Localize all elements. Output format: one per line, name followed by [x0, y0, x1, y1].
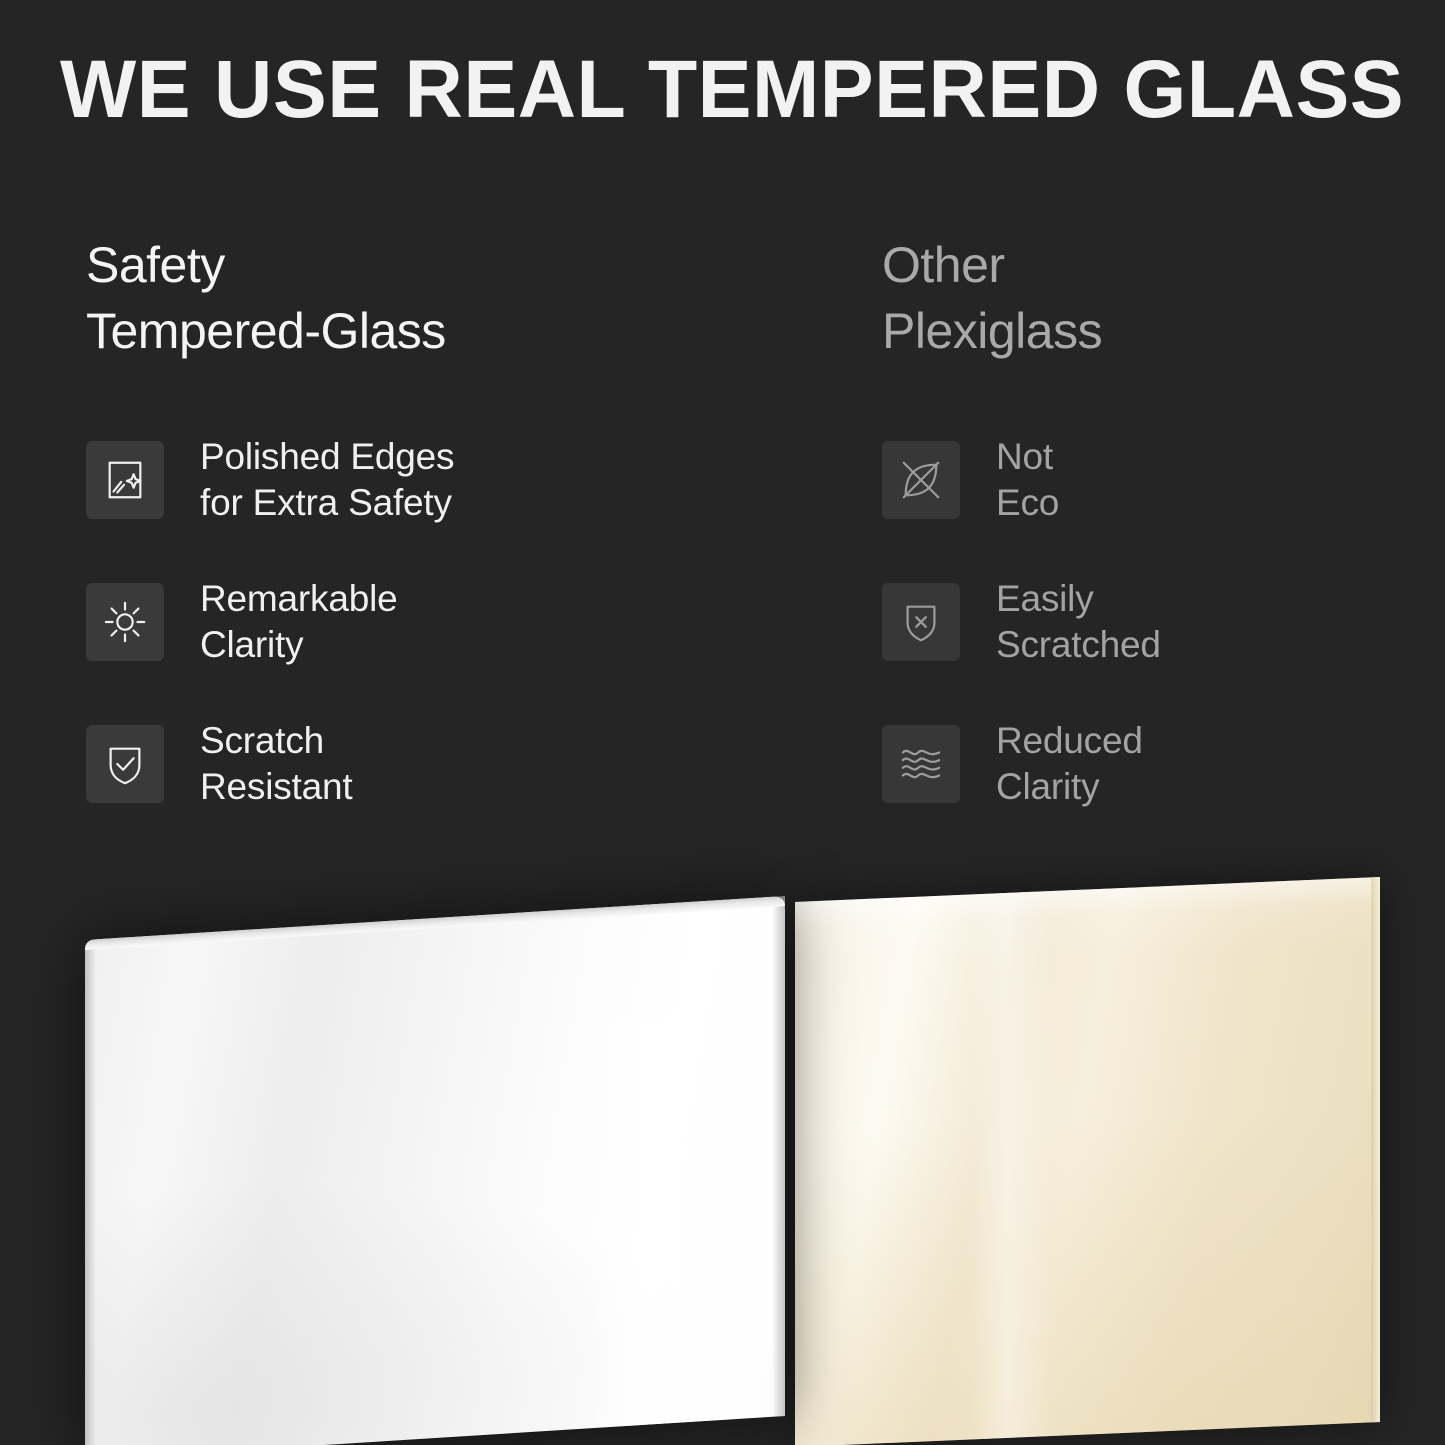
feature-label: Reduced Clarity	[996, 718, 1143, 810]
feature-row: Not Eco	[882, 430, 1442, 530]
feature-row: Remarkable Clarity	[86, 572, 646, 672]
tempered-glass-panel	[85, 896, 785, 1445]
column-other-plexiglass: Other Plexiglass Not Eco	[882, 232, 1442, 814]
glass-panel-comparison-image	[0, 840, 1445, 1445]
glass-reflection-highlight	[589, 1014, 729, 1428]
feature-label: Not Eco	[996, 434, 1059, 526]
feature-label: Scratch Resistant	[200, 718, 352, 810]
glass-right-bevel	[773, 896, 785, 1417]
feature-row: Polished Edges for Extra Safety	[86, 430, 646, 530]
feature-list-right: Not Eco Easily Scratched	[882, 430, 1442, 814]
shield-x-icon	[882, 583, 960, 661]
polished-glass-pane-sparkle-icon	[86, 441, 164, 519]
sun-brightness-icon	[86, 583, 164, 661]
leaf-crossed-out-icon	[882, 441, 960, 519]
column-safety-tempered-glass: Safety Tempered-Glass Polished Edges for…	[86, 232, 646, 814]
comparison-columns: Safety Tempered-Glass Polished Edges for…	[0, 232, 1445, 852]
plexiglass-right-edge	[1371, 877, 1380, 1422]
feature-label: Remarkable Clarity	[200, 576, 397, 668]
feature-row: Scratch Resistant	[86, 714, 646, 814]
column-title-right: Other Plexiglass	[882, 232, 1442, 364]
shield-check-icon	[86, 725, 164, 803]
feature-row: Easily Scratched	[882, 572, 1442, 672]
feature-label: Polished Edges for Extra Safety	[200, 434, 454, 526]
glass-left-bevel	[85, 939, 96, 1445]
comparison-infographic: WE USE REAL TEMPERED GLASS Safety Temper…	[0, 0, 1445, 1445]
wavy-lines-icon	[882, 725, 960, 803]
feature-list-left: Polished Edges for Extra Safety	[86, 430, 646, 814]
feature-row: Reduced Clarity	[882, 714, 1442, 814]
plexiglass-bottom-tint	[795, 1106, 1380, 1445]
page-title: WE USE REAL TEMPERED GLASS	[60, 44, 1380, 136]
column-title-left: Safety Tempered-Glass	[86, 232, 646, 364]
plexiglass-sheen	[971, 891, 1053, 1440]
feature-label: Easily Scratched	[996, 576, 1161, 668]
plexiglass-panel	[795, 877, 1380, 1445]
